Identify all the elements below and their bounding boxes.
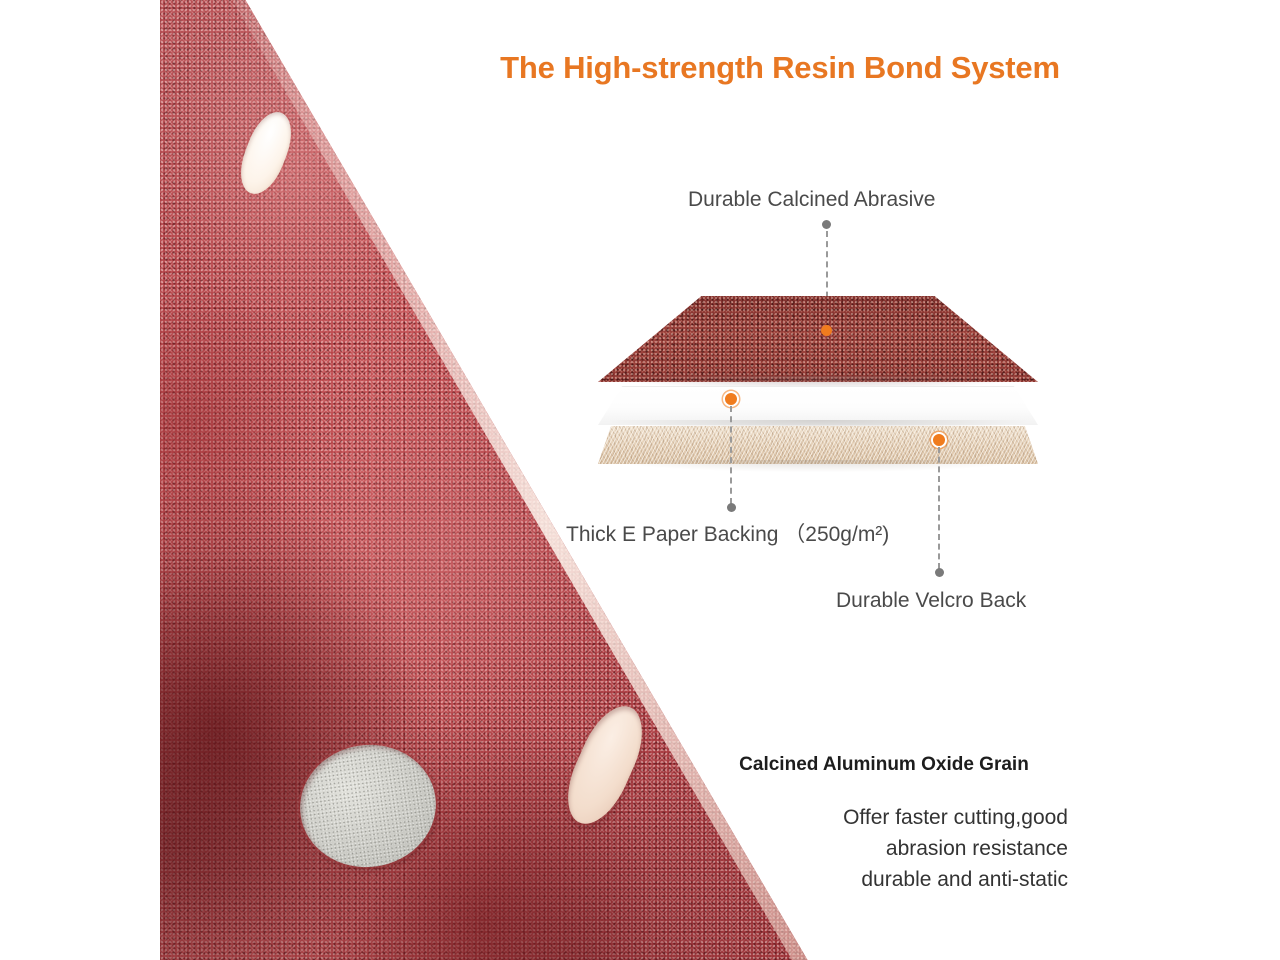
marker-dot-paper <box>723 391 739 407</box>
callout-label-abrasive: Durable Calcined Abrasive <box>688 188 935 212</box>
leader-line-velcro <box>938 447 940 569</box>
description-line: Offer faster cutting,good <box>700 802 1068 833</box>
layer-stack-diagram <box>598 296 1038 464</box>
callout-label-velcro: Durable Velcro Back <box>836 589 1026 613</box>
description-line: abrasion resistance <box>700 833 1068 864</box>
callout-anchor-dot-abrasive <box>822 220 831 229</box>
description-heading: Calcined Aluminum Oxide Grain <box>700 754 1068 776</box>
page-title: The High-strength Resin Bond System <box>400 50 1160 86</box>
layer-velcro-back <box>598 426 1038 464</box>
description-block: Calcined Aluminum Oxide Grain Offer fast… <box>700 754 1068 895</box>
callout-label-paper: Thick E Paper Backing （250g/m²) <box>566 518 889 548</box>
infographic-canvas: The High-strength Resin Bond System Dura… <box>0 0 1280 960</box>
layer-paper-backing <box>598 386 1038 425</box>
layer-abrasive <box>598 296 1038 382</box>
description-line: durable and anti-static <box>700 864 1068 895</box>
leader-line-paper <box>730 406 732 504</box>
marker-dot-abrasive <box>821 325 832 336</box>
callout-anchor-dot-velcro <box>935 568 944 577</box>
callout-anchor-dot-paper <box>727 503 736 512</box>
marker-dot-velcro <box>931 432 947 448</box>
